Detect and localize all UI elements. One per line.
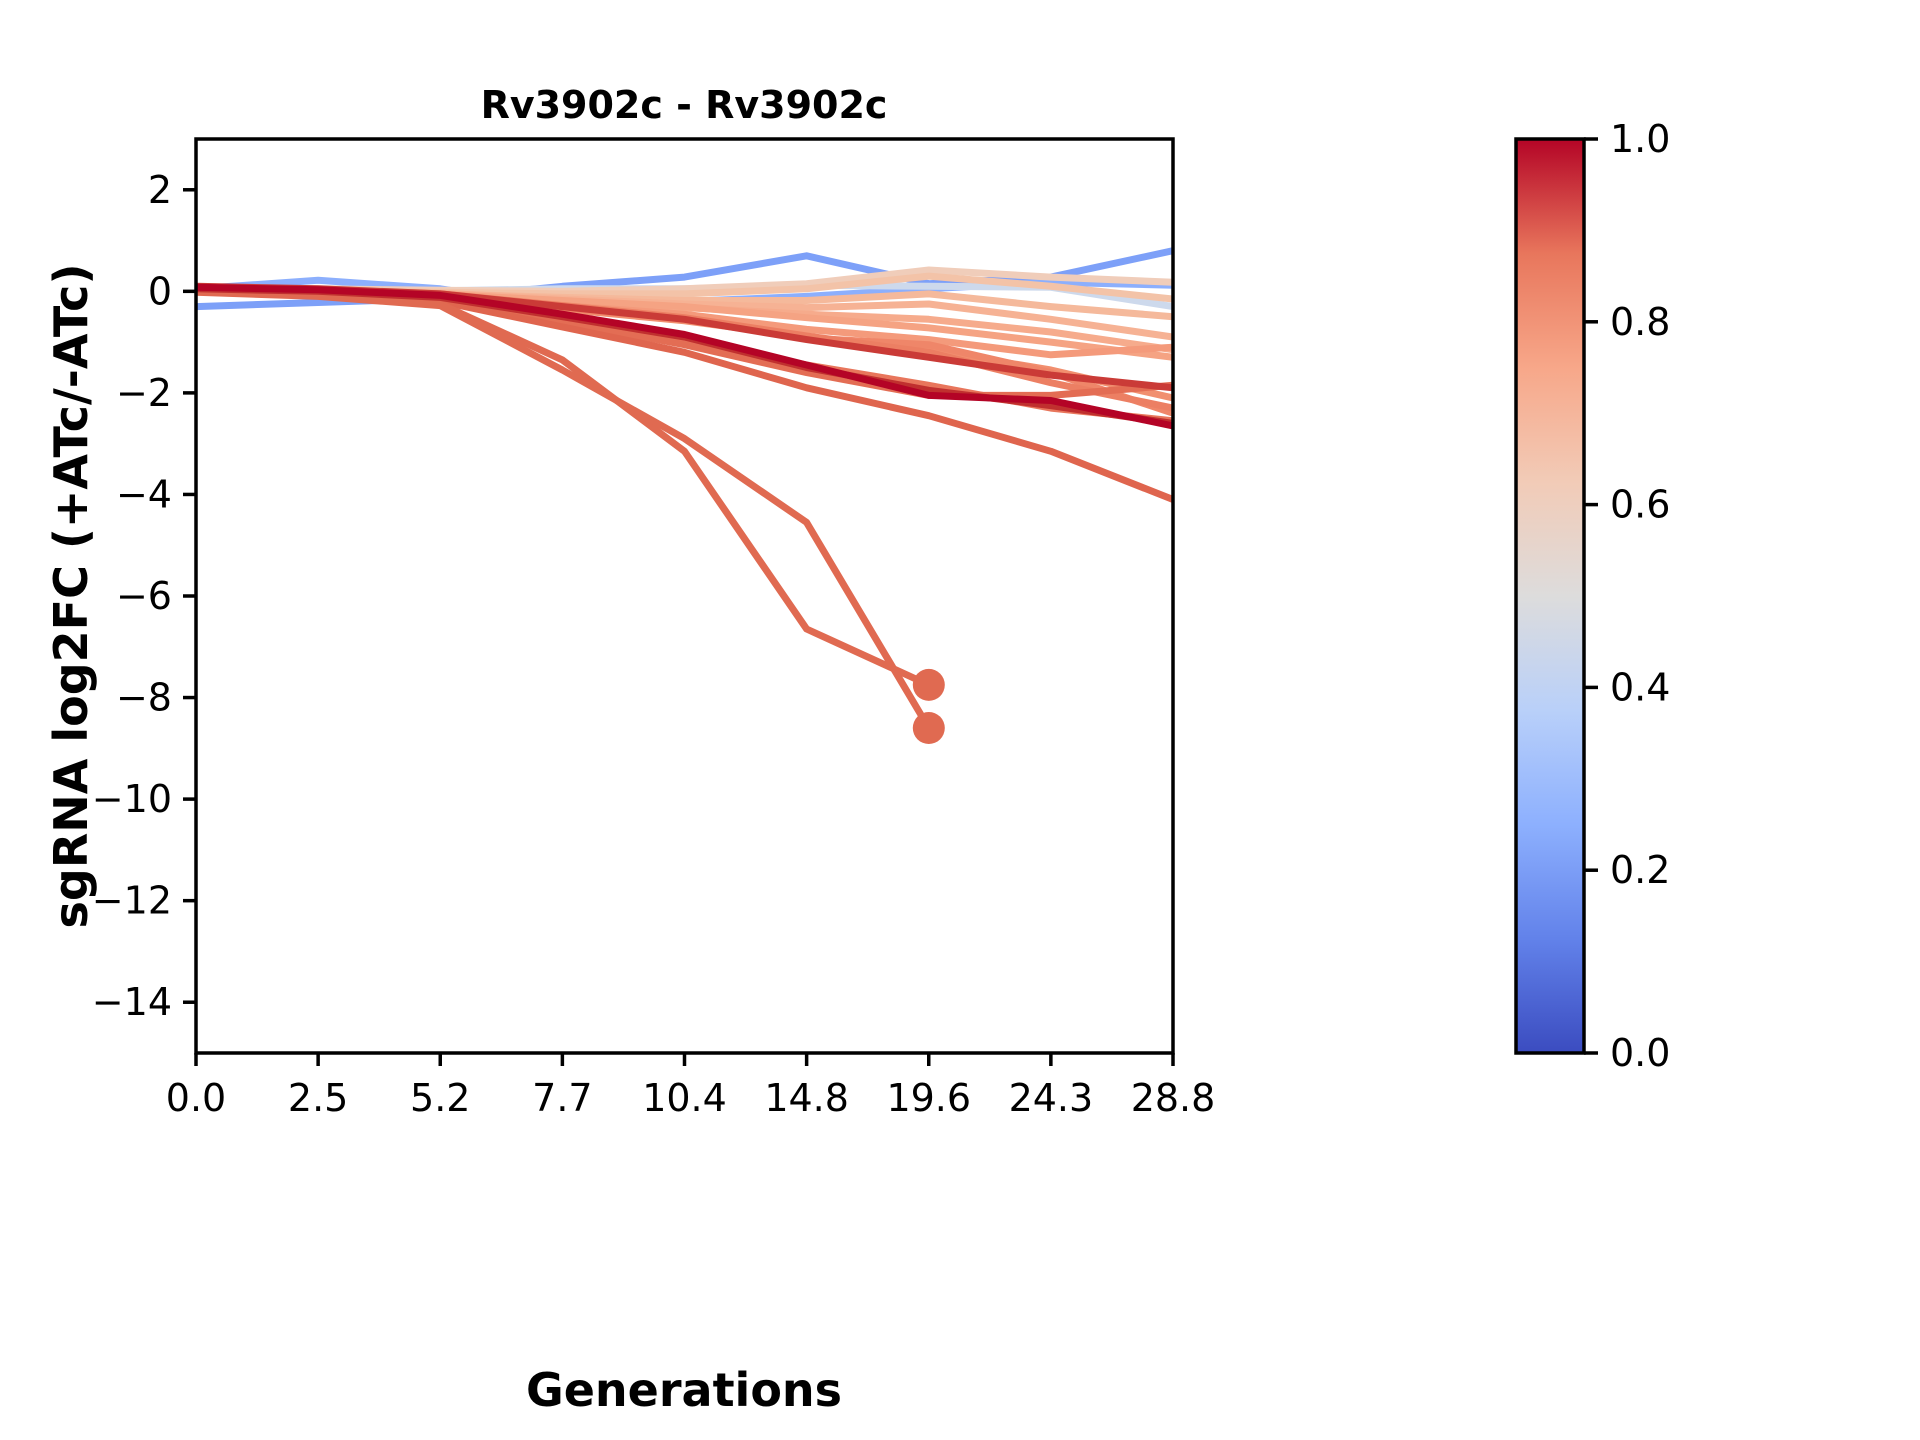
- x-axis-label: Generations: [526, 1363, 842, 1417]
- figure-canvas: Rv3902c - Rv3902c 20−2−4−6−8−10−12−14 0.…: [0, 0, 1920, 1440]
- y-tick-label: 0: [148, 269, 172, 313]
- chart-title: Rv3902c - Rv3902c: [481, 83, 888, 127]
- colorbar-tick-label: 0.2: [1610, 848, 1670, 892]
- y-tick-label: −10: [92, 777, 172, 821]
- x-tick-label: 19.6: [886, 1076, 971, 1120]
- x-tick-group: 0.02.55.27.710.414.819.624.328.8: [166, 1053, 1216, 1120]
- y-axis-label: sgRNA log2FC (+ATc/-ATc): [44, 264, 98, 929]
- y-tick-label: −6: [116, 574, 172, 618]
- y-tick-label: −14: [92, 980, 172, 1024]
- x-tick-label: 7.7: [532, 1076, 592, 1120]
- colorbar-tick-label: 0.4: [1610, 665, 1670, 709]
- x-tick-label: 10.4: [642, 1076, 727, 1120]
- series-endpoint-marker: [913, 712, 945, 744]
- colorbar-tick-label: 0.6: [1610, 483, 1670, 527]
- y-tick-group: 20−2−4−6−8−10−12−14: [92, 168, 196, 1024]
- x-tick-label: 5.2: [410, 1076, 470, 1120]
- y-tick-label: −12: [92, 879, 172, 923]
- x-tick-label: 0.0: [166, 1076, 226, 1120]
- y-tick-label: −4: [116, 472, 172, 516]
- x-tick-label: 24.3: [1009, 1076, 1094, 1120]
- x-tick-label: 28.8: [1131, 1076, 1216, 1120]
- x-tick-label: 14.8: [764, 1076, 849, 1120]
- colorbar: [1516, 139, 1584, 1053]
- colorbar-tick-label: 0.8: [1610, 300, 1670, 344]
- x-tick-label: 2.5: [288, 1076, 348, 1120]
- y-tick-label: −2: [116, 371, 172, 415]
- colorbar-tick-group: 1.00.80.60.40.20.0: [1584, 117, 1670, 1075]
- y-tick-label: 2: [148, 168, 172, 212]
- colorbar-tick-label: 1.0: [1610, 117, 1670, 161]
- y-tick-label: −8: [116, 676, 172, 720]
- series-endpoint-marker: [913, 669, 945, 701]
- colorbar-tick-label: 0.0: [1610, 1031, 1670, 1075]
- chart-figure: Rv3902c - Rv3902c 20−2−4−6−8−10−12−14 0.…: [0, 0, 1920, 1440]
